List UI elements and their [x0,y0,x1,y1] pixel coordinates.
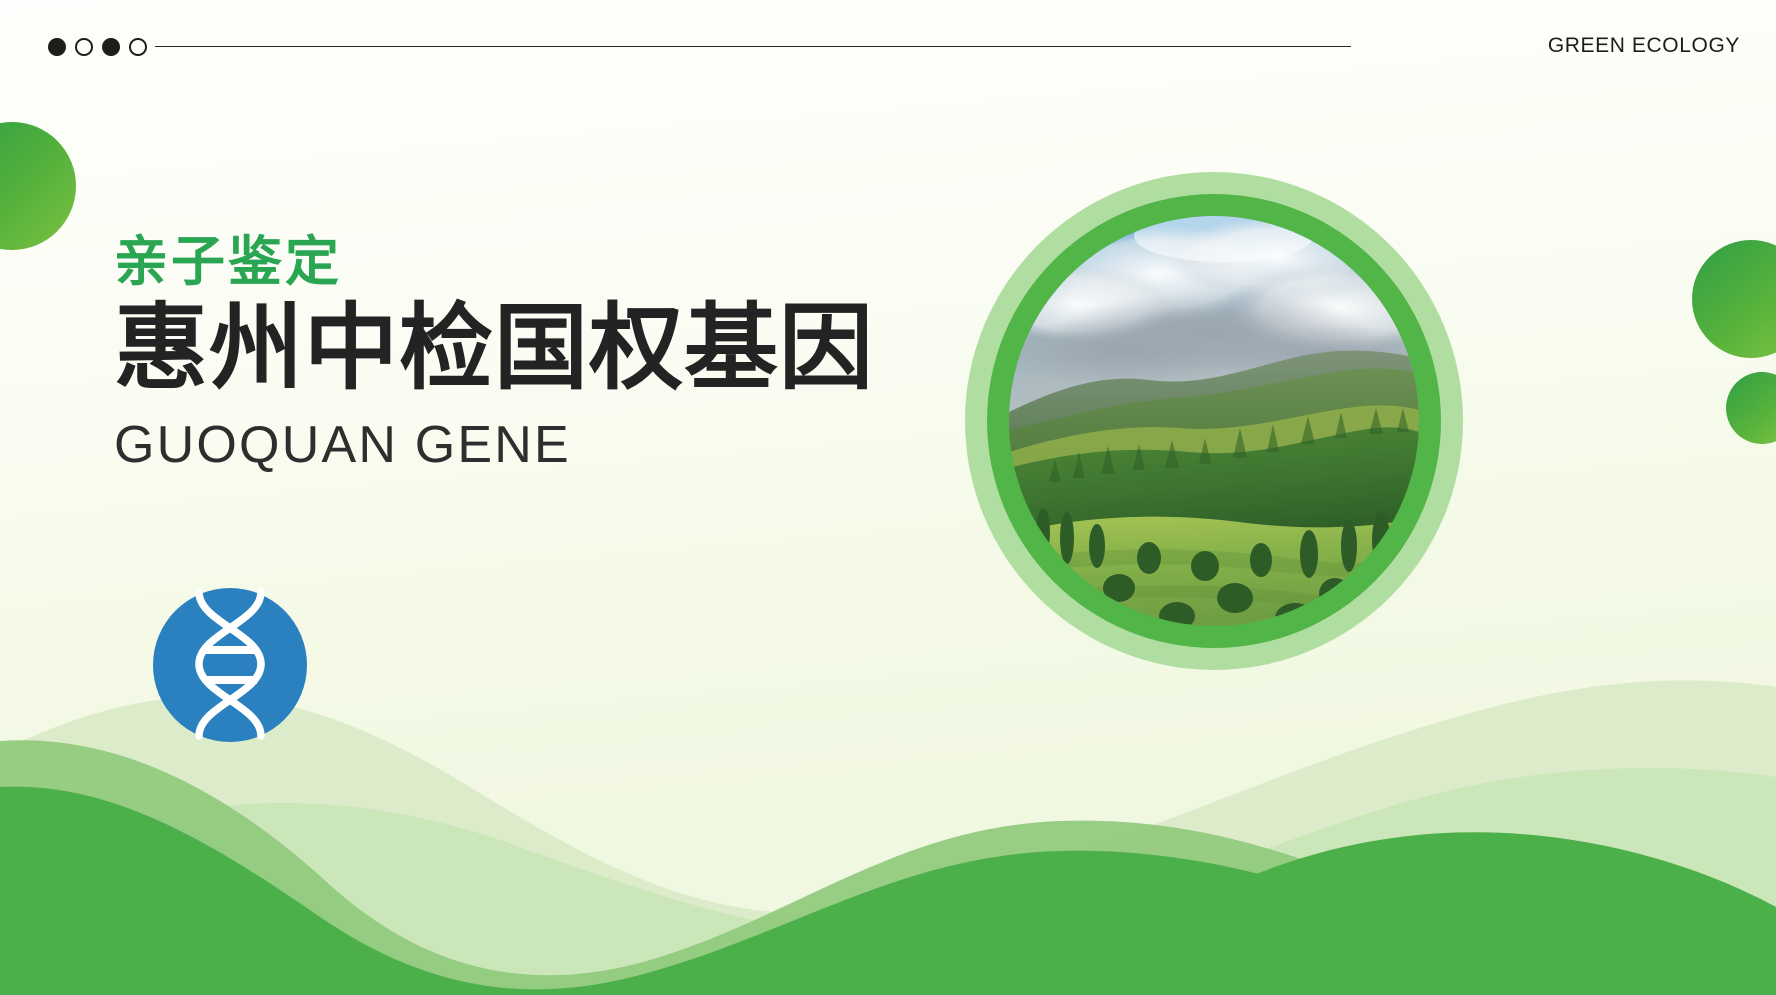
dot-indicator-group [48,38,147,56]
dot-4 [129,38,147,56]
photo-ring-inner [987,194,1441,648]
deco-circle-left-top [0,122,76,250]
page-subtitle: GUOQUAN GENE [114,414,874,476]
page-title: 惠州中检国权基因 [114,296,874,399]
top-bar: GREEN ECOLOGY [0,0,1776,96]
landscape-photo [1009,216,1419,626]
headline-block: 亲子鉴定 惠州中检国权基因 GUOQUAN GENE [114,232,874,476]
topbar-divider [155,46,1351,47]
dot-3 [102,38,120,56]
dot-2 [75,38,93,56]
photo-ring-outer [965,172,1463,670]
brand-tag: GREEN ECOLOGY [1548,34,1740,58]
slide-canvas: GREEN ECOLOGY 亲子鉴定 惠州中检国权基因 GUOQUAN GENE [0,0,1776,995]
deco-circle-right-lower [1726,372,1776,444]
dot-1 [48,38,66,56]
dna-helix-icon [153,588,307,742]
eyebrow-text: 亲子鉴定 [114,232,874,292]
deco-circle-right-upper [1692,240,1776,358]
